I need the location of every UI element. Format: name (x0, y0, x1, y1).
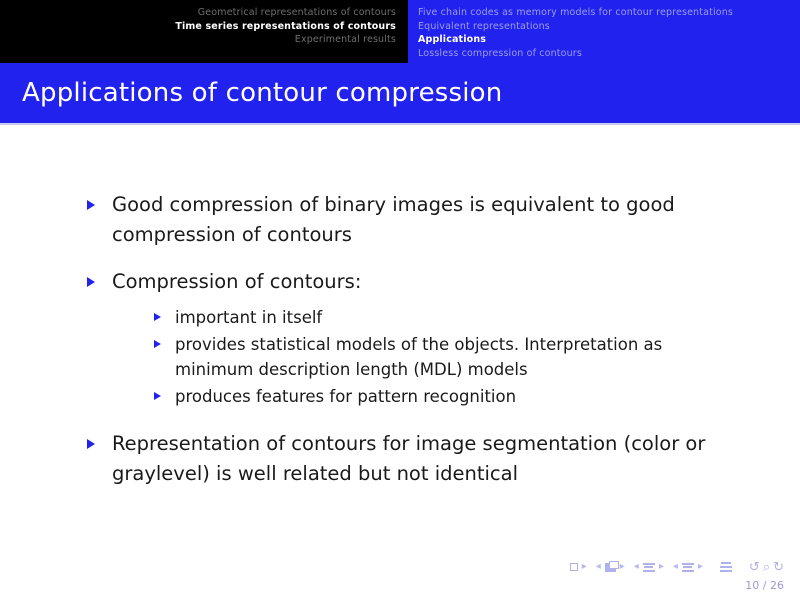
slide-body: Good compression of binary images is equ… (0, 190, 800, 506)
slide-footer: ▸ ◂ ▸ ◂ ▸ ◂ ▸ ↺ ⌕ ↻ (570, 558, 784, 592)
next-frame-arrow-icon[interactable]: ▸ (620, 562, 625, 572)
slide-square-icon[interactable] (570, 563, 578, 571)
history-nav-group: ↺ ⌕ ↻ (749, 561, 784, 574)
page-number: 10 / 26 (570, 579, 784, 592)
subsection-navigation: Five chain codes as memory models for co… (408, 0, 800, 63)
list-item: Compression of contours: important in it… (84, 267, 732, 409)
frame-nav-group: ◂ ▸ (596, 562, 625, 572)
sub-bullet-text: produces features for pattern recognitio… (175, 387, 516, 406)
list-item: Representation of contours for image seg… (84, 429, 732, 489)
slide: Geometrical representations of contours … (0, 0, 800, 600)
sub-list-item: produces features for pattern recognitio… (152, 384, 732, 409)
nav-section-item-0[interactable]: Geometrical representations of contours (0, 6, 396, 20)
back-icon[interactable]: ↺ (749, 561, 760, 574)
prev-subsection-arrow-icon[interactable]: ◂ (634, 562, 639, 572)
next-slide-arrow-icon[interactable]: ▸ (582, 562, 587, 572)
sub-bullet-triangle-icon (154, 392, 161, 400)
sub-bullet-list: important in itself provides statistical… (112, 305, 732, 409)
beamer-navigation-bar: Geometrical representations of contours … (0, 0, 800, 63)
bullet-triangle-icon (87, 200, 95, 210)
prev-section-arrow-icon[interactable]: ◂ (673, 562, 678, 572)
sub-bullet-text: provides statistical models of the objec… (175, 335, 662, 379)
section-navigation: Geometrical representations of contours … (0, 0, 408, 63)
bullet-triangle-icon (87, 439, 95, 449)
subsection-nav-group: ◂ ▸ (634, 562, 664, 572)
nav-subsection-item-3[interactable]: Lossless compression of contours (418, 47, 800, 61)
sub-bullet-triangle-icon (154, 313, 161, 321)
bullet-text: Representation of contours for image seg… (112, 432, 705, 485)
nav-subsection-item-0[interactable]: Five chain codes as memory models for co… (418, 6, 800, 20)
page-title: Applications of contour compression (22, 78, 502, 108)
frame-title-bar: Applications of contour compression (0, 63, 800, 123)
next-subsection-arrow-icon[interactable]: ▸ (659, 562, 664, 572)
nav-section-item-2[interactable]: Experimental results (0, 33, 396, 47)
nav-section-item-1[interactable]: Time series representations of contours (0, 20, 396, 34)
next-section-arrow-icon[interactable]: ▸ (698, 562, 703, 572)
search-icon[interactable]: ⌕ (763, 561, 770, 574)
nav-subsection-item-2[interactable]: Applications (418, 33, 800, 47)
bullet-text: Compression of contours: (112, 270, 361, 293)
sub-bullet-triangle-icon (154, 340, 161, 348)
sub-list-item: important in itself (152, 305, 732, 330)
title-underline-divider (0, 123, 800, 125)
section-nav-group: ◂ ▸ (673, 562, 703, 572)
document-icon[interactable] (720, 562, 732, 572)
forward-icon[interactable]: ↻ (773, 561, 784, 574)
navigation-symbols: ▸ ◂ ▸ ◂ ▸ ◂ ▸ ↺ ⌕ ↻ (570, 558, 784, 576)
bullet-text: Good compression of binary images is equ… (112, 193, 675, 246)
frame-icon[interactable] (605, 563, 616, 572)
slide-nav-group: ▸ (570, 562, 587, 572)
list-item: Good compression of binary images is equ… (84, 190, 732, 250)
sub-list-item: provides statistical models of the objec… (152, 332, 732, 382)
section-icon[interactable] (682, 563, 694, 572)
bullet-triangle-icon (87, 277, 95, 287)
prev-frame-arrow-icon[interactable]: ◂ (596, 562, 601, 572)
subsection-icon[interactable] (643, 563, 655, 572)
sub-bullet-text: important in itself (175, 308, 322, 327)
nav-subsection-item-1[interactable]: Equivalent representations (418, 20, 800, 34)
bullet-list: Good compression of binary images is equ… (84, 190, 800, 489)
